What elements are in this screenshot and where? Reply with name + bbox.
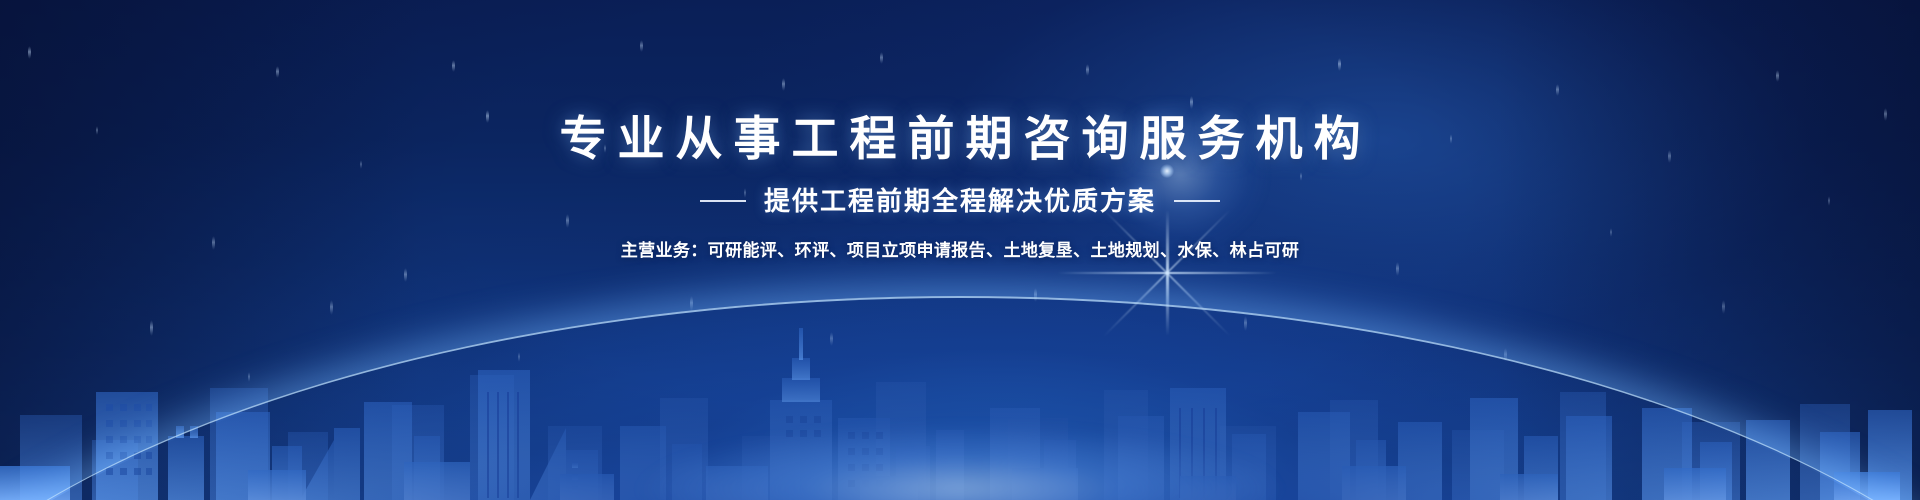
horizon-hot-glow: [510, 384, 1410, 500]
banner-business-line: 主营业务：可研能评、环评、项目立项申请报告、土地复垦、土地规划、水保、林占可研: [0, 218, 1920, 263]
banner-subtitle: 提供工程前期全程解决优质方案: [764, 184, 1156, 218]
banner-subtitle-row: 提供工程前期全程解决优质方案: [0, 167, 1920, 218]
divider-right-icon: [1174, 200, 1220, 202]
banner-copy: 专业从事工程前期咨询服务机构 提供工程前期全程解决优质方案 主营业务：可研能评、…: [0, 0, 1920, 263]
banner-headline: 专业从事工程前期咨询服务机构: [0, 0, 1920, 167]
hero-banner: 专业从事工程前期咨询服务机构 提供工程前期全程解决优质方案 主营业务：可研能评、…: [0, 0, 1920, 500]
divider-left-icon: [700, 200, 746, 202]
